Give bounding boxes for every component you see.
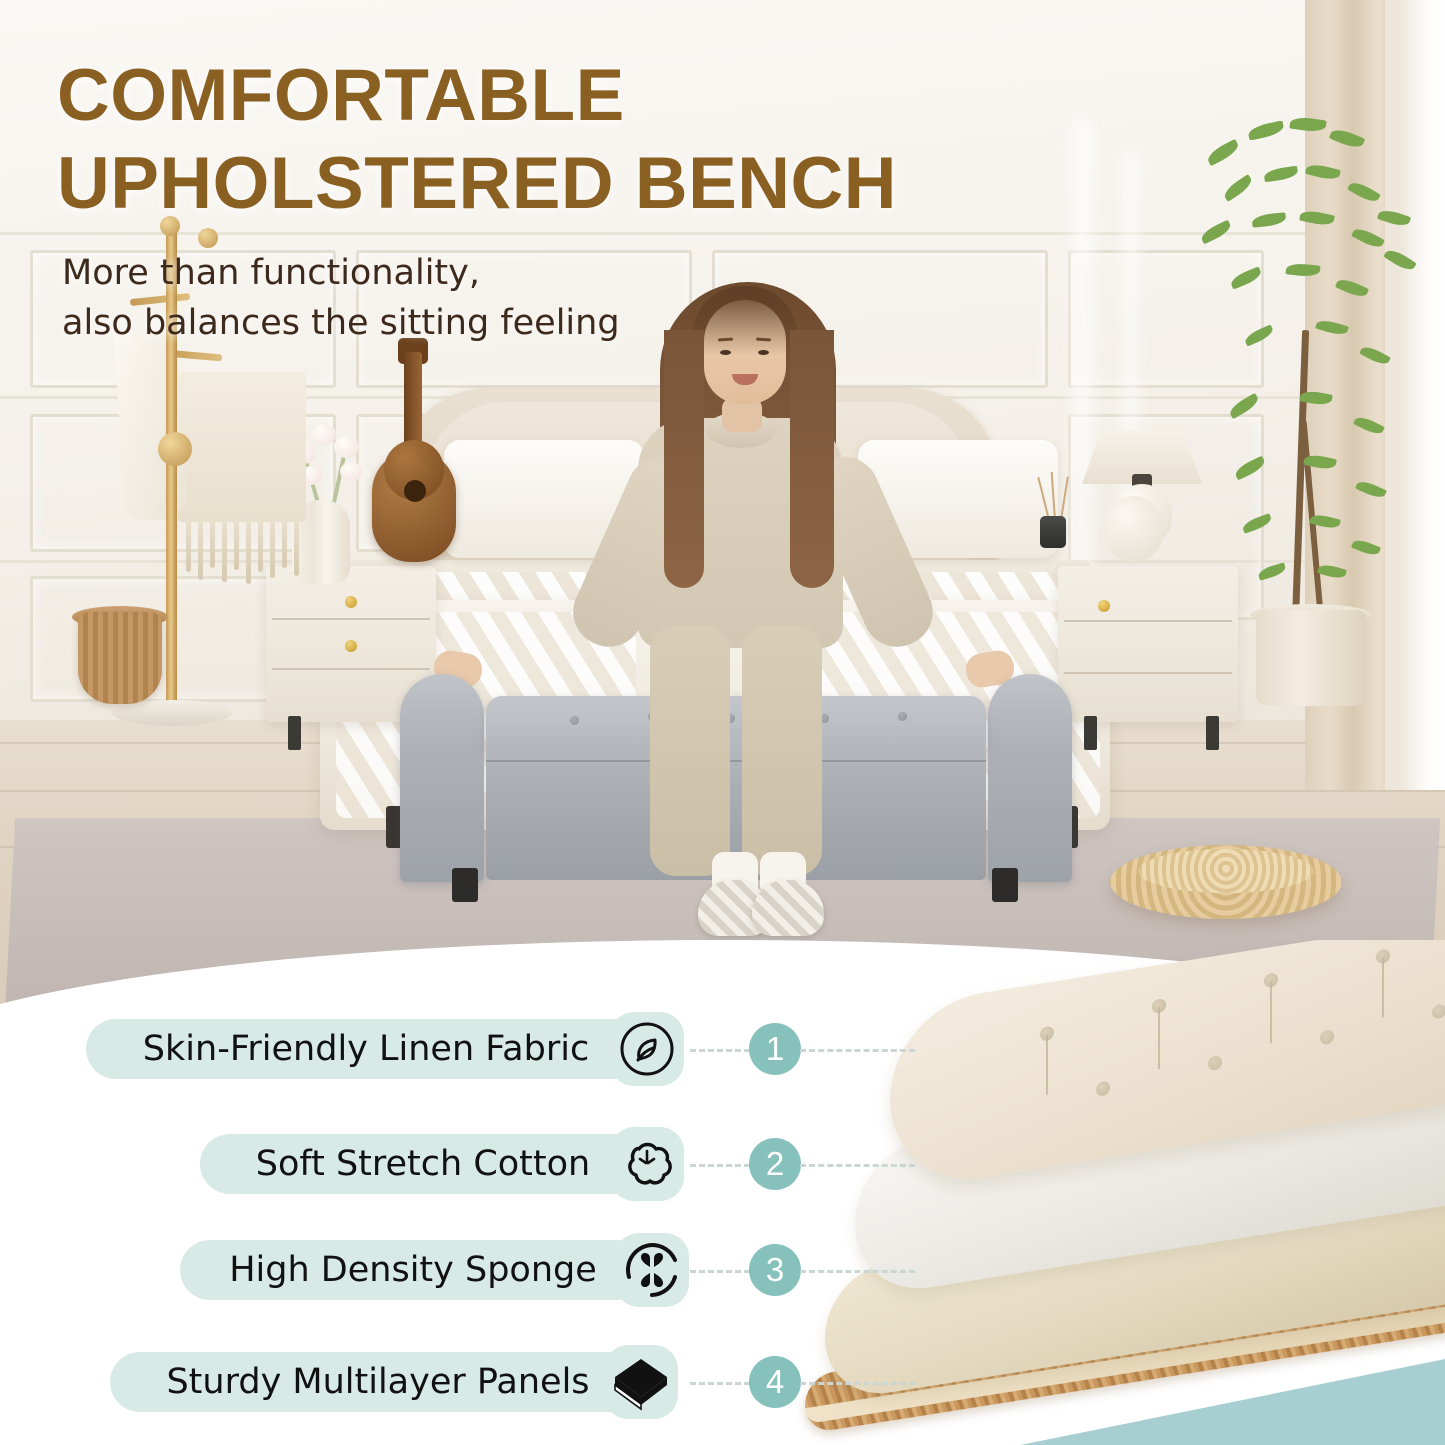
feature-badge: 2 — [749, 1138, 801, 1190]
feature-label: Soft Stretch Cotton — [256, 1144, 590, 1184]
badge-number: 4 — [766, 1363, 784, 1401]
feature-badge: 4 — [749, 1356, 801, 1408]
woman-leg-left — [650, 626, 730, 876]
feature-badge: 1 — [749, 1023, 801, 1075]
feature-row[interactable]: High Density Sponge 3 — [0, 1233, 840, 1307]
feature-row[interactable]: Skin-Friendly Linen Fabric 1 — [0, 1012, 840, 1086]
woven-basket — [78, 612, 162, 704]
reed-diffuser — [1040, 516, 1066, 548]
feature-label: High Density Sponge — [229, 1250, 597, 1290]
feature-pill[interactable]: High Density Sponge — [180, 1240, 646, 1300]
badge-number: 2 — [766, 1145, 784, 1183]
feature-row[interactable]: Sturdy Multilayer Panels 4 — [0, 1345, 840, 1419]
feature-rows: Skin-Friendly Linen Fabric 1 — [0, 940, 1445, 1445]
page-title: COMFORTABLE UPHOLSTERED BENCH — [57, 52, 1067, 228]
panel-slab-icon — [604, 1345, 678, 1419]
round-vase — [1104, 496, 1164, 562]
subtitle: More than functionality, also balances t… — [62, 248, 802, 348]
bedroom-photo-scene: COMFORTABLE UPHOLSTERED BENCH More than … — [0, 0, 1445, 1010]
subtitle-line-1: More than functionality, — [62, 248, 802, 298]
nightstand-right — [1058, 566, 1238, 722]
sponge-cells-icon — [615, 1233, 689, 1307]
feature-pill[interactable]: Soft Stretch Cotton — [200, 1134, 646, 1194]
feature-label: Sturdy Multilayer Panels — [166, 1362, 589, 1402]
macrame-wall-hanging — [178, 372, 306, 522]
headline-line-1: COMFORTABLE — [57, 52, 1067, 140]
headline-line-2: UPHOLSTERED BENCH — [57, 140, 1067, 228]
feature-row[interactable]: Soft Stretch Cotton 2 — [0, 1127, 840, 1201]
badge-number: 1 — [766, 1030, 784, 1068]
cotton-boll-icon — [610, 1127, 684, 1201]
leaf-icon — [610, 1012, 684, 1086]
subtitle-line-2: also balances the sitting feeling — [62, 298, 802, 348]
feature-pill[interactable]: Skin-Friendly Linen Fabric — [86, 1019, 646, 1079]
features-panel: Skin-Friendly Linen Fabric 1 — [0, 940, 1445, 1445]
product-infographic: COMFORTABLE UPHOLSTERED BENCH More than … — [0, 0, 1445, 1445]
slipper-right — [752, 880, 824, 936]
feature-badge: 3 — [749, 1244, 801, 1296]
badge-number: 3 — [766, 1251, 784, 1289]
woman-leg-right — [742, 626, 822, 876]
plant-pot — [1256, 610, 1366, 706]
feature-pill[interactable]: Sturdy Multilayer Panels — [110, 1352, 646, 1412]
feature-label: Skin-Friendly Linen Fabric — [143, 1029, 589, 1069]
